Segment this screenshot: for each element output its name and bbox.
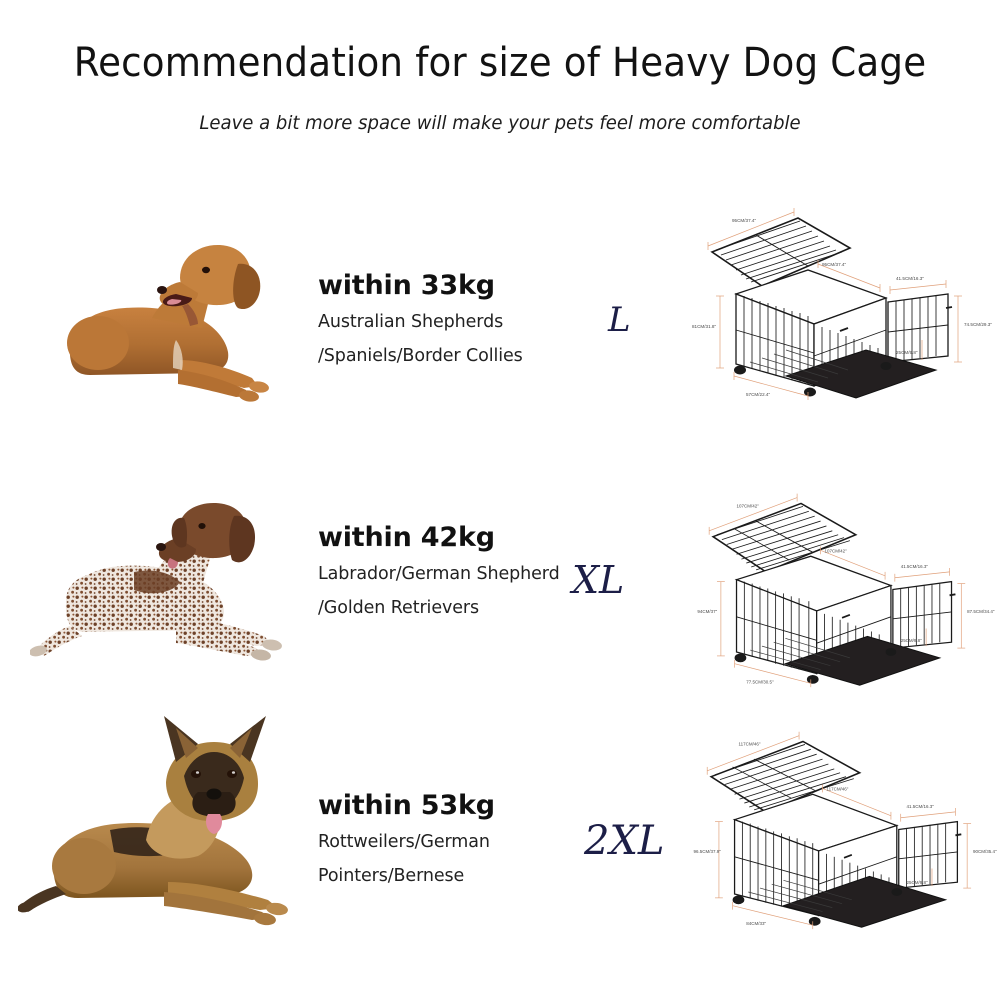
breeds-line-2: /Golden Retrievers [318, 596, 560, 621]
size-row: within 42kg Labrador/German Shepherd /Go… [0, 460, 1000, 720]
breeds-line-1: Rottweilers/German [318, 830, 495, 855]
dim-body-height: 81CM/31.8" [692, 324, 716, 329]
dim-body-width: 57CM/22.4" [746, 392, 770, 397]
dim-body-depth: 107CM/42" [824, 548, 847, 553]
dim-body-height: 94CM/37" [697, 609, 717, 614]
cage-diagram: 107CM/42" 107CM/42" 41.5CM/16.3" 94CM/37… [690, 480, 1000, 695]
breeds-line-2: /Spaniels/Border Collies [318, 344, 523, 369]
weight-label: within 42kg [318, 522, 560, 553]
page-subtitle: Leave a bit more space will make your pe… [25, 112, 975, 134]
size-row-text: within 42kg Labrador/German Shepherd /Go… [318, 522, 560, 621]
dim-lid-width: 117CM/46" [738, 741, 760, 746]
infographic-page: Recommendation for size of Heavy Dog Cag… [0, 0, 1000, 1000]
dog-cage-illustration: 95CM/37.4" 95CM/37.4" 41.5CM/16.3" 81CM/… [690, 190, 1000, 410]
weight-label: within 53kg [318, 790, 495, 821]
lying-pointer-dog-icon [30, 460, 310, 690]
lying-red-dog-icon [30, 200, 310, 430]
breeds-line-2: Pointers/Bernese [318, 864, 495, 889]
cage-diagram: 117CM/46" 117CM/46" 41.5CM/16.3" 96.5CM/… [690, 720, 1000, 935]
breeds-line-1: Australian Shepherds [318, 310, 523, 335]
dim-body-height: 96.5CM/37.9" [694, 849, 722, 854]
breeds-line-1: Labrador/German Shepherd [318, 562, 560, 587]
dim-tray-height: 25CM/9.8" [901, 638, 922, 643]
size-badge-l: L [608, 300, 631, 340]
dim-body-depth: 117CM/46" [826, 786, 848, 791]
dim-door-width: 41.5CM/16.3" [907, 804, 935, 809]
dim-lid-width: 107CM/42" [737, 503, 760, 508]
dim-door-height: 90CM/35.4" [973, 849, 997, 854]
size-row: within 53kg Rottweilers/German Pointers/… [0, 700, 1000, 960]
dim-door-height: 74.5CM/29.3" [964, 322, 992, 327]
dim-tray-height: 25CM/9.8" [907, 880, 928, 885]
dim-body-depth: 95CM/37.4" [822, 262, 846, 267]
cage-diagram: 95CM/37.4" 95CM/37.4" 41.5CM/16.3" 81CM/… [690, 190, 1000, 410]
size-badge-2xl: 2XL [584, 818, 665, 864]
size-badge-xl: XL [572, 558, 624, 602]
dog-photo-german-shepherd [18, 700, 318, 940]
dim-door-width: 41.5CM/16.3" [896, 276, 924, 281]
dog-photo-pointer [30, 460, 310, 690]
size-row: within 33kg Australian Shepherds /Spanie… [0, 200, 1000, 460]
dog-photo-red-dog [30, 200, 310, 430]
page-title: Recommendation for size of Heavy Dog Cag… [35, 40, 965, 86]
dim-door-width: 41.5CM/16.3" [901, 564, 929, 569]
dim-body-width: 84CM/33" [746, 921, 766, 926]
size-row-text: within 33kg Australian Shepherds /Spanie… [318, 270, 523, 369]
dog-cage-illustration: 117CM/46" 117CM/46" 41.5CM/16.3" 96.5CM/… [690, 720, 1000, 935]
size-row-text: within 53kg Rottweilers/German Pointers/… [318, 790, 495, 889]
weight-label: within 33kg [318, 270, 523, 301]
lying-german-shepherd-icon [18, 700, 318, 940]
dog-cage-illustration: 107CM/42" 107CM/42" 41.5CM/16.3" 94CM/37… [690, 480, 1000, 695]
dim-lid-width: 95CM/37.4" [732, 218, 756, 223]
dim-tray-height: 25CM/9.8" [896, 350, 918, 355]
dim-door-height: 87.5CM/34.4" [967, 609, 995, 614]
dim-body-width: 77.5CM/30.5" [746, 679, 774, 684]
